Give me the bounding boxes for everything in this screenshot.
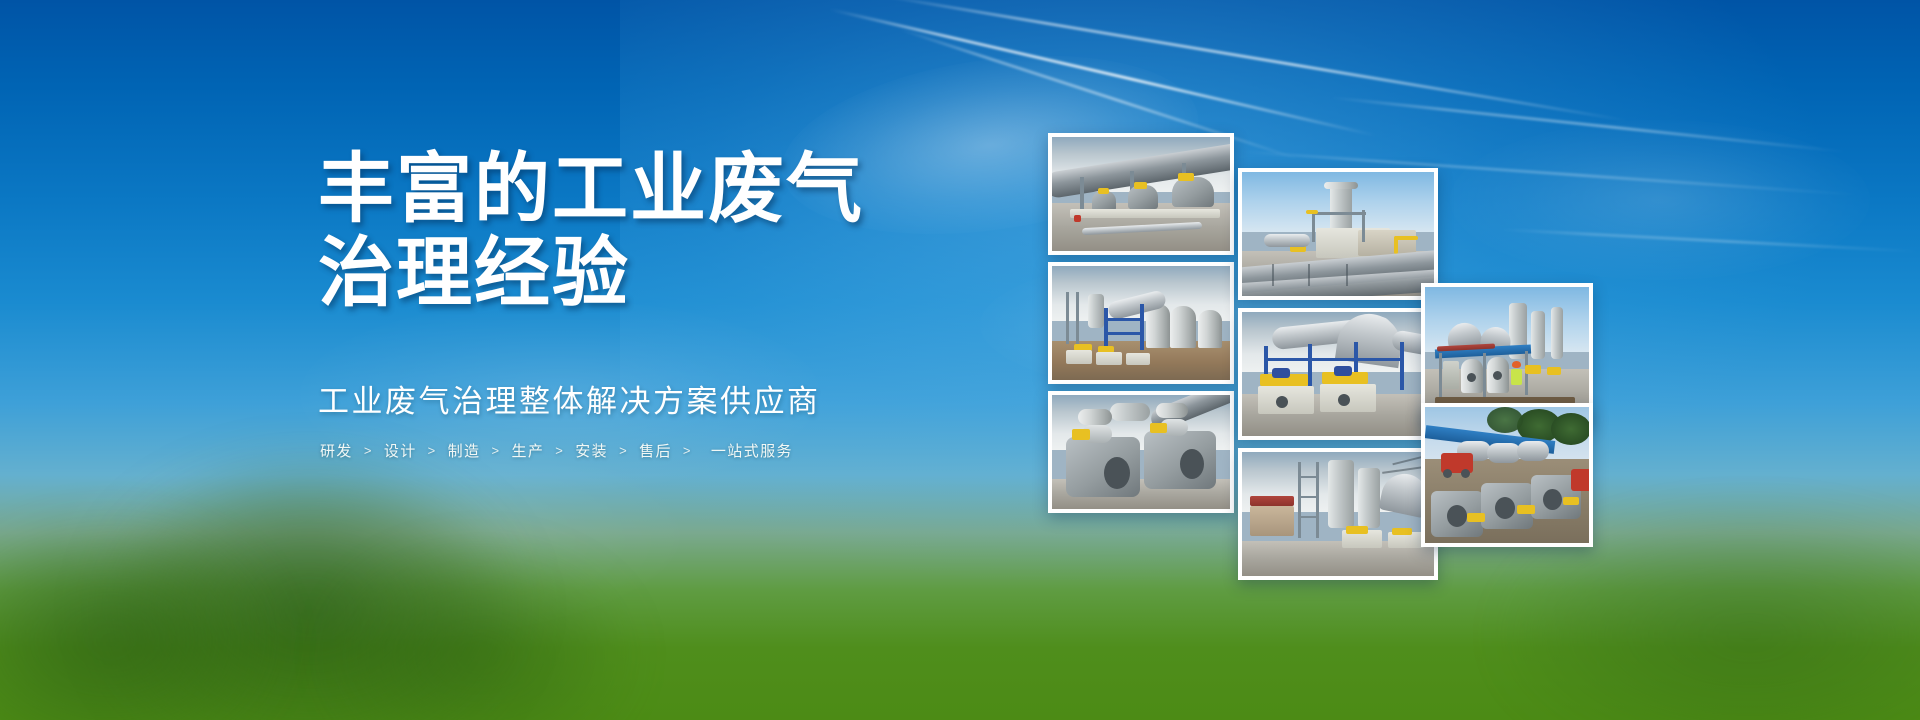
gallery-photo-spray-tower-plant[interactable]: [1238, 448, 1438, 580]
breadcrumb-step-4: 安装: [573, 440, 610, 461]
hero-banner: 丰富的工业废气 治理经验 工业废气治理整体解决方案供应商 研发 > 设计 > 制…: [0, 0, 1920, 720]
cloud-wisp: [1450, 120, 1870, 280]
gallery-photo-industrial-duct-rooftop[interactable]: [1048, 133, 1234, 255]
headline-line-2: 治理经验: [318, 232, 878, 316]
breadcrumb-step-5: 售后: [637, 440, 674, 461]
breadcrumb-separator-icon: >: [674, 443, 701, 458]
breadcrumb-separator-icon: >: [546, 443, 573, 458]
banner-subtitle: 工业废气治理整体解决方案供应商: [318, 382, 878, 422]
breadcrumb-separator-icon: >: [355, 443, 382, 458]
gallery-photo-blue-frame-ducting[interactable]: [1238, 308, 1438, 440]
breadcrumb-step-2: 制造: [446, 440, 483, 461]
breadcrumb-final-step: 一站式服务: [709, 440, 795, 461]
breadcrumb-step-0: 研发: [318, 440, 355, 461]
contrail: [880, 0, 1630, 122]
page-title: 丰富的工业废气 治理经验: [318, 148, 878, 316]
contrail: [1500, 228, 1920, 253]
gallery-photo-scrubber-tower-array[interactable]: [1048, 262, 1234, 384]
banner-copy: 丰富的工业废气 治理经验 工业废气治理整体解决方案供应商 研发 > 设计 > 制…: [318, 148, 878, 461]
photo-collage: [0, 0, 1920, 720]
breadcrumb-step-3: 生产: [509, 440, 546, 461]
breadcrumb-step-1: 设计: [382, 440, 419, 461]
foliage-blur: [0, 520, 280, 720]
breadcrumb-separator-icon: >: [419, 443, 446, 458]
gallery-photo-rto-incinerator-stack[interactable]: [1238, 168, 1438, 300]
breadcrumb-separator-icon: >: [482, 443, 509, 458]
breadcrumb: 研发 > 设计 > 制造 > 生产 > 安装 > 售后 > 一站式服务: [318, 440, 878, 461]
foliage-blur: [330, 550, 630, 720]
foliage-blur: [100, 460, 520, 720]
gallery-photo-centrifugal-fan-row[interactable]: [1048, 391, 1234, 513]
breadcrumb-separator-icon: >: [610, 443, 637, 458]
contrail: [830, 8, 1376, 137]
gallery-photo-fan-yard-forklift[interactable]: [1421, 403, 1593, 547]
contrail: [1330, 96, 1847, 153]
cloud-wisp: [60, 430, 680, 640]
headline-line-1: 丰富的工业废气: [318, 148, 878, 232]
